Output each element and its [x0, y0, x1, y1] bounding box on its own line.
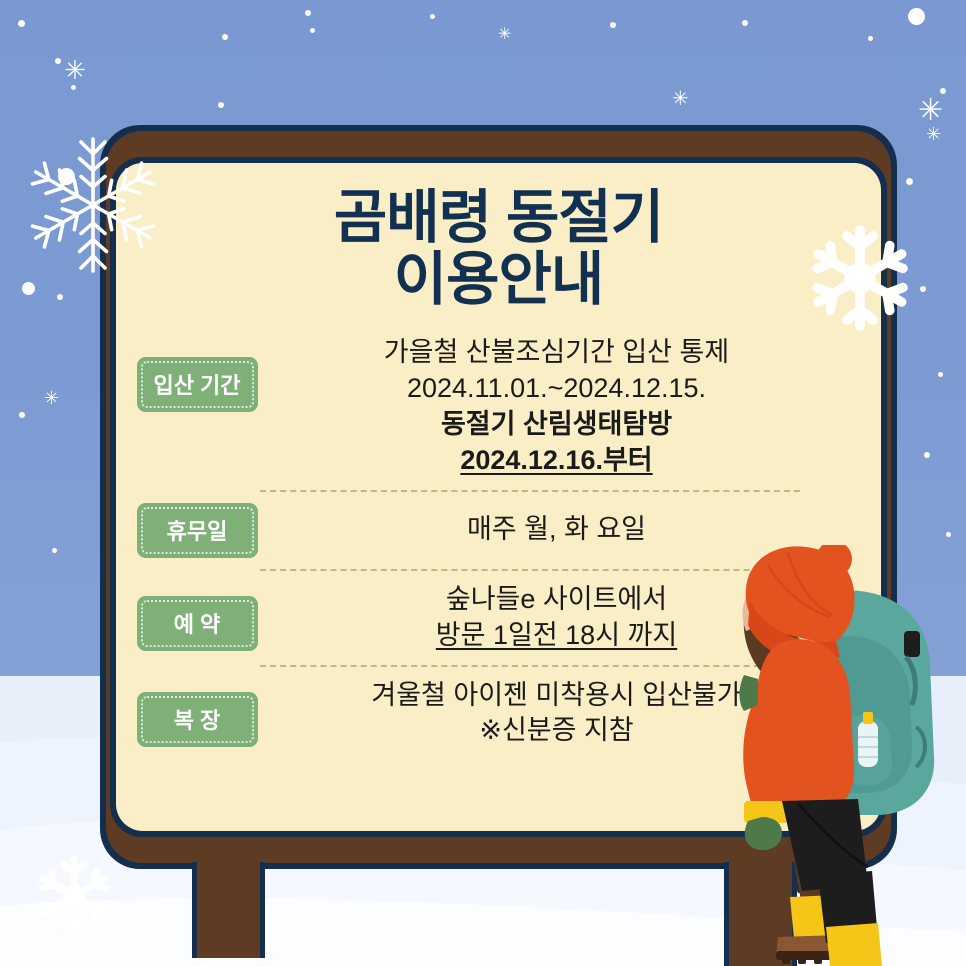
board-leg-left — [192, 862, 265, 958]
snow-dot — [22, 282, 35, 295]
row-line: 매주 월, 화 요일 — [260, 512, 853, 548]
asterisk-snowflake-icon: ✳ — [918, 96, 943, 126]
snowflake-icon — [800, 218, 920, 338]
row-text: 가을철 산불조심기간 입산 통제 2024.11.01.~2024.12.15.… — [260, 335, 861, 479]
snow-dot — [908, 8, 925, 25]
snow-dot — [57, 294, 63, 300]
status-badge: 예 약 — [137, 596, 258, 651]
snowflake-icon — [18, 130, 168, 280]
water-bottle-icon — [858, 721, 878, 767]
asterisk-snowflake-icon: ✳ — [926, 126, 941, 144]
snow-dot — [52, 548, 57, 553]
badge-cell: 입산 기간 — [134, 335, 260, 412]
snow-dot — [310, 28, 315, 33]
snow-dot — [218, 102, 224, 108]
asterisk-snowflake-icon: ✳ — [498, 26, 511, 42]
snow-dot — [924, 452, 930, 458]
page-title: 곰배령 동절기 이용안내 — [116, 187, 881, 311]
snow-dot — [222, 34, 228, 40]
snow-dot — [19, 412, 25, 418]
snow-dot — [610, 22, 616, 28]
row-text: 매주 월, 화 요일 — [260, 512, 861, 548]
asterisk-snowflake-icon: ✳ — [44, 390, 59, 408]
table-row: 입산 기간 가을철 산불조심기간 입산 통제 2024.11.01.~2024.… — [134, 335, 861, 479]
status-badge: 휴무일 — [137, 503, 258, 558]
snow-dot — [906, 178, 913, 185]
snow-dot — [305, 10, 311, 16]
row-line: 2024.11.01.~2024.12.15. — [260, 371, 853, 407]
badge-cell: 휴무일 — [134, 503, 260, 558]
asterisk-snowflake-icon: ✳ — [672, 88, 689, 108]
badge-cell: 예 약 — [134, 582, 260, 651]
winter-hiker-illustration — [690, 545, 966, 966]
asterisk-snowflake-icon: ✳ — [64, 58, 86, 84]
snow-dot — [868, 36, 873, 41]
snow-dot — [18, 20, 25, 27]
snow-dot — [742, 20, 748, 26]
poster-scene: ✳ ✳ ✳ ✳ ✳ ✳ ✳ ✳ 곰배령 동절기 이용안내 입산 기간 가을철 산… — [0, 0, 966, 966]
status-badge: 입산 기간 — [137, 357, 258, 412]
glove-icon — [745, 817, 782, 850]
snow-dot — [430, 14, 435, 19]
badge-cell: 복 장 — [134, 678, 260, 747]
snow-dot — [938, 372, 943, 377]
row-divider — [260, 490, 800, 492]
row-line: 동절기 산림생태탐방 — [260, 407, 853, 443]
row-line: 2024.12.16.부터 — [260, 443, 853, 479]
snow-dot — [946, 532, 951, 537]
gaiter — [826, 923, 882, 966]
snow-dot — [55, 58, 61, 64]
row-line: 가을철 산불조심기간 입산 통제 — [260, 335, 853, 371]
snowflake-icon — [26, 848, 122, 944]
status-badge: 복 장 — [137, 692, 258, 747]
snow-dot — [920, 286, 926, 292]
